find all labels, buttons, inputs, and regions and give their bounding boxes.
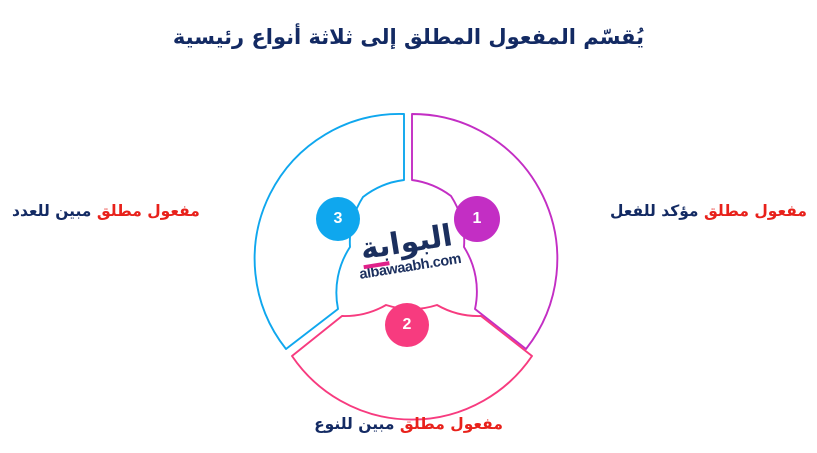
donut-diagram xyxy=(0,0,817,453)
segment-label-3: مفعول مطلق مبين للعدد xyxy=(12,200,217,222)
segment-label-3-rest: مبين للعدد xyxy=(12,202,91,220)
segment-label-2-highlight: مفعول مطلق xyxy=(400,415,503,433)
segment-label-2: مفعول مطلق مبين للنوع xyxy=(0,413,817,435)
segment-label-3-highlight: مفعول مطلق xyxy=(97,202,200,220)
segment-number-1[interactable]: 1 xyxy=(454,196,500,242)
segment-number-3[interactable]: 3 xyxy=(316,197,360,241)
segment-label-2-rest: مبين للنوع xyxy=(314,415,394,433)
segment-label-1: مفعول مطلق مؤكد للفعل xyxy=(607,200,807,222)
segment-number-2[interactable]: 2 xyxy=(385,303,429,347)
segment-label-1-highlight: مفعول مطلق xyxy=(704,202,807,220)
segment-label-1-rest: مؤكد للفعل xyxy=(610,202,699,220)
